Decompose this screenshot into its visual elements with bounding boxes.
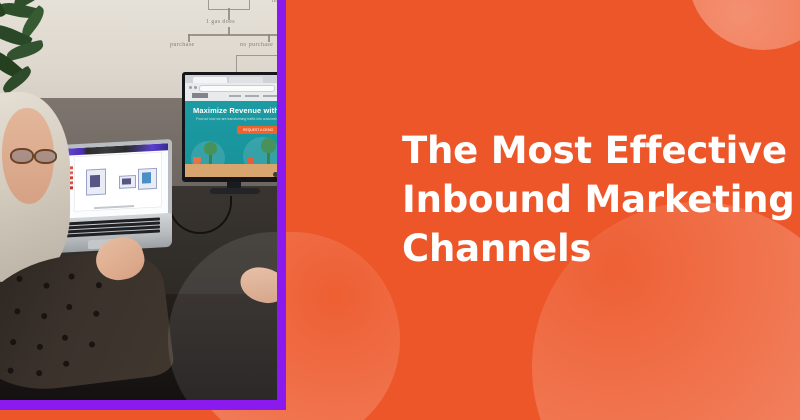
decor-circle-top-right-icon [688,0,800,50]
external-monitor: Maximize Revenue with So Find out how we… [182,72,277,194]
site-cta-button: REQUEST A DEMO [237,126,277,134]
browser-tab [193,77,227,84]
headline-line-2: Inbound Marketing [402,175,784,224]
laptop-screen [64,143,168,218]
thumbnail-figure-icon [90,175,100,188]
hero-photo: 1 gas does purchase no purchase 4 scale … [0,0,277,400]
monitor-bezel: Maximize Revenue with So Find out how we… [182,72,277,182]
site-hero-subtitle: Find out how we are transforming traffic… [196,117,277,121]
site-logo-icon [192,93,208,98]
monitor-stand [210,188,260,194]
hero-ground [185,164,277,177]
site-hero: Maximize Revenue with So Find out how we… [185,101,277,177]
browser-forward-icon [194,86,197,89]
monitor-screen: Maximize Revenue with So Find out how we… [185,75,277,177]
whiteboard-note-text: purchase [170,42,195,48]
page-title: The Most Effective Inbound Marketing Cha… [402,126,784,273]
whiteboard-connector-icon [188,34,190,42]
site-nav-item [263,95,277,98]
thumbnail-figure-icon [142,172,151,183]
browser-tab [229,77,263,84]
thumbnail-figure-icon [122,178,131,184]
plant-pot-icon [193,157,201,164]
site-nav-item [245,95,259,98]
accent-bar-horizontal [0,400,286,410]
tree-top-icon [261,138,276,153]
photo-block: 1 gas does purchase no purchase 4 scale … [0,0,286,410]
whiteboard-note-text: no purchase [240,42,273,48]
banner-canvas: 1 gas does purchase no purchase 4 scale … [0,0,800,420]
site-hero-title: Maximize Revenue with So [193,106,277,115]
accent-bar-vertical [277,0,286,410]
browser-chrome [185,75,277,101]
plant-pot-icon [247,158,254,164]
tree-top-icon [204,142,217,155]
laptop-keys [62,217,162,239]
headline-line-1: The Most Effective [402,126,784,175]
person-arm-sleeve [0,245,175,398]
eyeglasses-icon [10,148,56,162]
site-nav-item [229,95,241,98]
browser-url-bar [199,85,275,92]
browser-back-icon [189,86,192,89]
laptop-lid [60,139,172,225]
whiteboard-connector-icon [268,34,270,42]
whiteboard-note-text: 1 gas does [206,19,235,25]
whiteboard-connector-icon [188,34,277,36]
office-plant-icon [0,0,70,106]
headline-line-3: Channels [402,224,784,273]
